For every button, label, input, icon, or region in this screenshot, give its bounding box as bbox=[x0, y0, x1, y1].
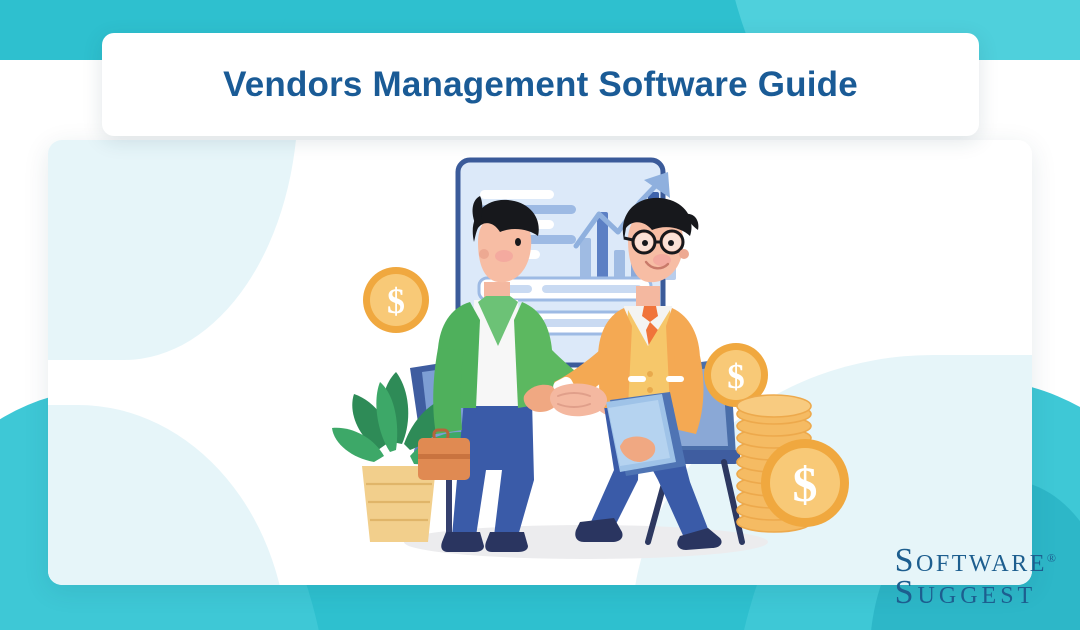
svg-text:$: $ bbox=[387, 281, 405, 321]
coin-left: $ bbox=[363, 267, 429, 333]
card-blob-top-left bbox=[48, 140, 298, 360]
coin-stack: $ bbox=[737, 395, 849, 532]
logo-line-suggest: SUGGEST bbox=[895, 577, 1056, 608]
logo-text-uggest: UGGEST bbox=[918, 583, 1037, 609]
svg-text:$: $ bbox=[793, 456, 818, 512]
registered-mark-icon: ® bbox=[1047, 551, 1056, 565]
svg-text:$: $ bbox=[727, 357, 745, 396]
title-card: Vendors Management Software Guide bbox=[102, 33, 979, 136]
card-blob-bottom-left bbox=[48, 405, 288, 585]
logo-cap-s2: S bbox=[895, 574, 918, 611]
poster-canvas: $ $ bbox=[0, 0, 1080, 630]
page-title: Vendors Management Software Guide bbox=[223, 65, 858, 105]
hero-illustration: $ $ bbox=[318, 150, 858, 580]
brand-logo[interactable]: SOFTWARE® SUGGEST bbox=[895, 545, 1056, 608]
logo-line-software: SOFTWARE® bbox=[895, 545, 1056, 576]
content-card: $ $ bbox=[48, 140, 1032, 585]
handshake bbox=[550, 384, 607, 417]
logo-text-oftware: OFTWARE bbox=[916, 551, 1047, 577]
